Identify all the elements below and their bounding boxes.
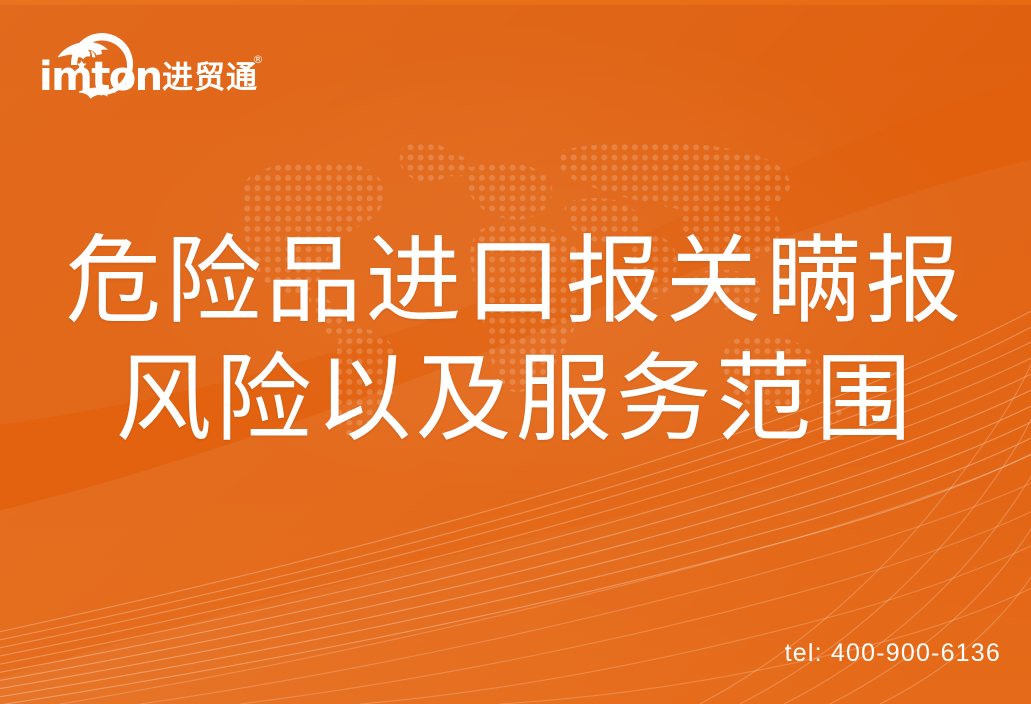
headline-line-1: 危险品进口报关瞒报	[0, 222, 1031, 340]
logo[interactable]: imton 进贸通 ®	[38, 27, 268, 103]
contact-phone[interactable]: tel: 400-900-6136	[785, 639, 1001, 668]
headline: 危险品进口报关瞒报 风险以及服务范围	[0, 222, 1031, 458]
headline-line-2: 风险以及服务范围	[0, 340, 1031, 458]
logo-wordmark: imton	[39, 54, 161, 100]
promo-banner: imton 进贸通 ® 危险品进口报关瞒报 风险以及服务范围 tel: 400-…	[0, 0, 1031, 704]
logo-trademark: ®	[253, 53, 264, 66]
logo-chinese-name: 进贸通	[162, 60, 258, 96]
